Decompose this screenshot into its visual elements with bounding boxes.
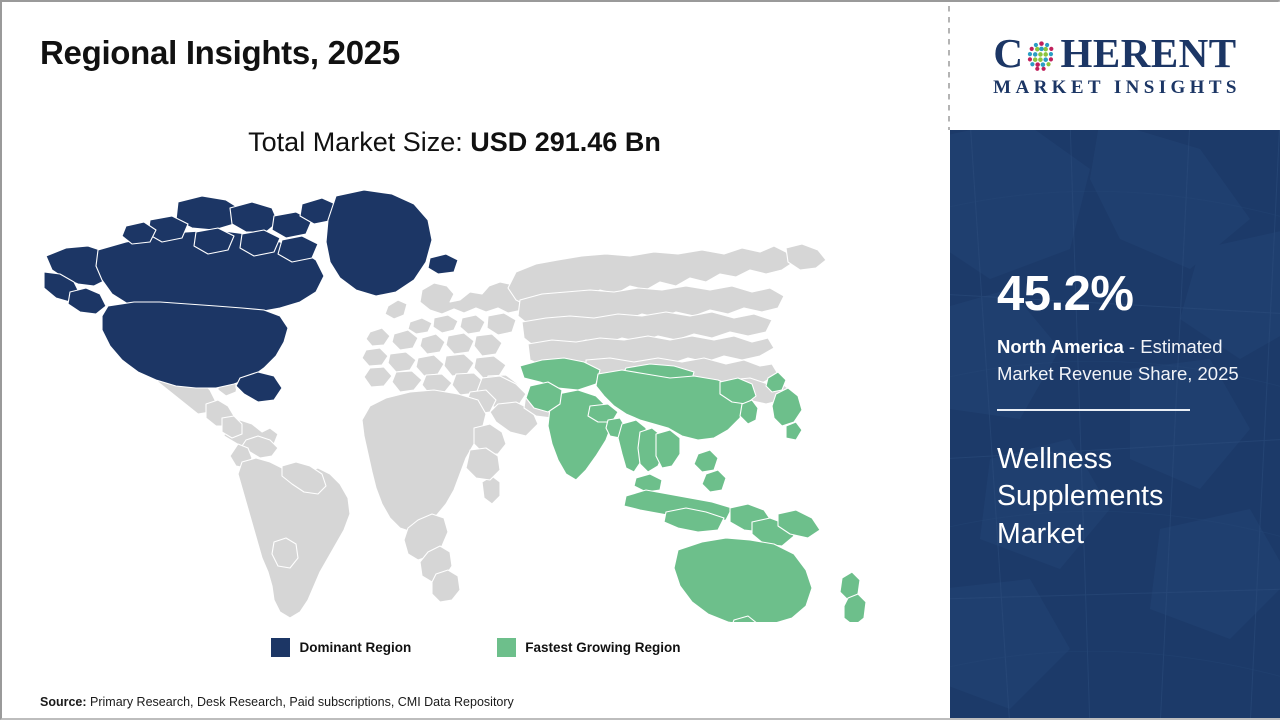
legend-item-fastest-growing: Fastest Growing Region bbox=[497, 638, 680, 657]
right-sidebar: C bbox=[950, 2, 1280, 718]
source-text: Primary Research, Desk Research, Paid su… bbox=[87, 695, 514, 709]
logo-letters-herent: HERENT bbox=[1060, 33, 1236, 74]
logo-tagline: MARKET INSIGHTS bbox=[989, 77, 1241, 99]
page-title: Regional Insights, 2025 bbox=[40, 34, 400, 72]
legend-label-dominant: Dominant Region bbox=[299, 640, 411, 655]
stat-divider bbox=[997, 409, 1190, 411]
market-size-value: USD 291.46 Bn bbox=[470, 127, 661, 157]
logo-letter-c: C bbox=[993, 33, 1023, 74]
region-south-america bbox=[224, 420, 350, 618]
legend-swatch-dominant bbox=[271, 638, 290, 657]
left-content-panel: Regional Insights, 2025 Total Market Siz… bbox=[2, 2, 950, 718]
world-map bbox=[30, 182, 910, 622]
total-market-size: Total Market Size: USD 291.46 Bn bbox=[2, 127, 907, 158]
legend-item-dominant: Dominant Region bbox=[271, 638, 411, 657]
stat-panel: 45.2% North America - Estimated Market R… bbox=[950, 130, 1280, 718]
region-asia-pacific bbox=[520, 358, 866, 622]
source-note: Source: Primary Research, Desk Research,… bbox=[40, 695, 514, 709]
brand-logo: C bbox=[950, 2, 1280, 130]
market-name: Wellness Supplements Market bbox=[997, 441, 1247, 555]
market-size-label: Total Market Size: bbox=[248, 127, 470, 157]
region-africa bbox=[362, 390, 506, 602]
dotted-globe-icon bbox=[1024, 38, 1059, 73]
regional-insights-infographic: Regional Insights, 2025 Total Market Siz… bbox=[0, 0, 1280, 720]
stat-caption: North America - Estimated Market Revenue… bbox=[997, 333, 1247, 387]
legend-label-fastest-growing: Fastest Growing Region bbox=[525, 640, 680, 655]
legend-swatch-fastest-growing bbox=[497, 638, 516, 657]
logo-wordmark: C bbox=[993, 33, 1236, 74]
source-prefix: Source: bbox=[40, 695, 87, 709]
map-legend: Dominant Region Fastest Growing Region bbox=[2, 638, 950, 657]
stat-percent-value: 45.2% bbox=[997, 270, 1247, 319]
stat-content: 45.2% North America - Estimated Market R… bbox=[997, 270, 1247, 554]
stat-region-name: North America bbox=[997, 336, 1124, 357]
